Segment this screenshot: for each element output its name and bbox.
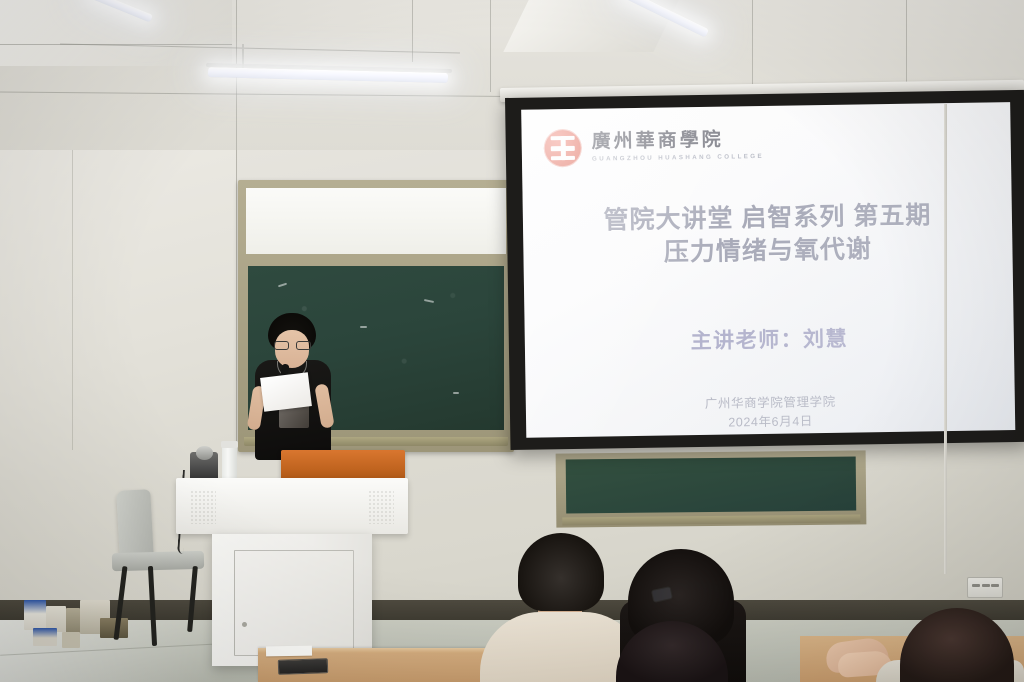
college-emblem-icon [543, 129, 582, 168]
glasses-lens-right [296, 341, 311, 350]
chalk-mark [453, 392, 459, 394]
projection-screen-surface: 廣州華商學院 GUANGZHOU HUASHANG COLLEGE 管院大讲堂 … [521, 102, 1015, 438]
outlet-slot-left [972, 584, 980, 587]
glasses-lens-left [274, 341, 289, 350]
chalk-box [33, 628, 57, 646]
wall-power-outlet[interactable] [967, 577, 1003, 598]
bottle-cap [221, 441, 238, 448]
emblem-bar-bottom [551, 156, 575, 160]
lectern-top[interactable] [176, 478, 408, 534]
wall-seam-2 [236, 150, 237, 480]
slide-speaker-line: 主讲老师：刘慧 [525, 320, 1014, 358]
outlet-slot-mid [982, 584, 990, 587]
chalk-box [24, 600, 46, 630]
chalk-mark [424, 299, 434, 303]
gadget-head [196, 446, 213, 460]
paper-script [260, 372, 312, 412]
lectern-lock-icon [242, 622, 247, 627]
mobile-phone[interactable] [278, 658, 328, 675]
lectern-speaker-grill-left [190, 490, 216, 524]
lectern-speaker-grill-right [368, 490, 394, 524]
ceiling-slab-left [0, 0, 232, 66]
emblem-bar-top [551, 136, 575, 140]
ceiling-grid-vline-5 [906, 0, 907, 86]
lectern-cabinet-door[interactable] [234, 550, 354, 656]
ceiling-grid-vline-3 [412, 0, 413, 62]
chalk-box [62, 632, 80, 648]
blackboard-surface-right [566, 456, 857, 513]
name-card [266, 646, 312, 657]
chalk-mark [360, 326, 367, 328]
wall-conduit [944, 104, 947, 574]
chair-backrest[interactable] [116, 489, 154, 559]
chalk-tray-right [562, 514, 860, 525]
lamp-stem-1 [242, 44, 244, 70]
college-name-block: 廣州華商學院 GUANGZHOU HUASHANG COLLEGE [592, 130, 765, 163]
water-bottle[interactable] [222, 446, 237, 482]
chalk-mark [278, 283, 287, 288]
ceiling-grid-vline-4 [752, 0, 753, 88]
blackboard-right [556, 450, 867, 527]
classroom-photo-scene: 廣州華商學院 GUANGZHOU HUASHANG COLLEGE 管院大讲堂 … [0, 0, 1024, 682]
eyeglasses-icon [274, 341, 310, 348]
slide-title: 管院大讲堂 启智系列 第五期 压力情绪与氧代谢 [523, 198, 1013, 271]
slide-title-line1: 管院大讲堂 启智系列 第五期 [603, 201, 931, 234]
slide-title-line2: 压力情绪与氧代谢 [523, 231, 1012, 271]
slide-footer: 广州华商学院管理学院 2024年6月4日 [526, 390, 1016, 436]
wall-seam-1 [72, 150, 73, 450]
slide-logo: 廣州華商學院 GUANGZHOU HUASHANG COLLEGE [543, 126, 764, 167]
college-name-cn: 廣州華商學院 [592, 130, 764, 153]
outlet-slot-right [991, 584, 999, 587]
wall-left-panel [0, 150, 237, 480]
audience-1-head [518, 533, 604, 611]
college-name-en: GUANGZHOU HUASHANG COLLEGE [592, 153, 764, 163]
ceiling-grid-vline-2 [490, 0, 491, 92]
whiteboard-panel [246, 188, 506, 254]
